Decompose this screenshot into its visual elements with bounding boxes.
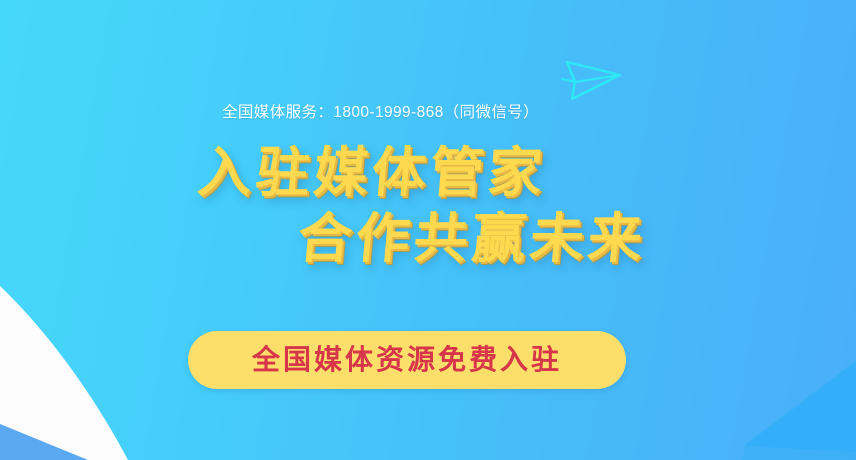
promo-banner: 全国媒体服务：1800-1999-868（同微信号） 入驻媒体管家 合作共赢未来… — [0, 0, 856, 460]
headline-block: 入驻媒体管家 合作共赢未来 — [0, 140, 856, 272]
bottom-right-triangle-2 — [745, 362, 856, 452]
bottom-left-triangle — [0, 424, 88, 460]
bottom-right-triangle — [742, 360, 856, 460]
white-curve-wedge — [0, 286, 128, 460]
paper-plane-svg — [560, 48, 626, 106]
contact-phone-line: 全国媒体服务：1800-1999-868（同微信号） — [222, 102, 539, 124]
free-enroll-cta-button[interactable]: 全国媒体资源免费入驻 — [188, 331, 626, 389]
headline-line-2: 合作共赢未来 — [295, 206, 856, 272]
paper-plane-icon — [560, 48, 626, 106]
headline-line-1: 入驻媒体管家 — [195, 140, 856, 206]
